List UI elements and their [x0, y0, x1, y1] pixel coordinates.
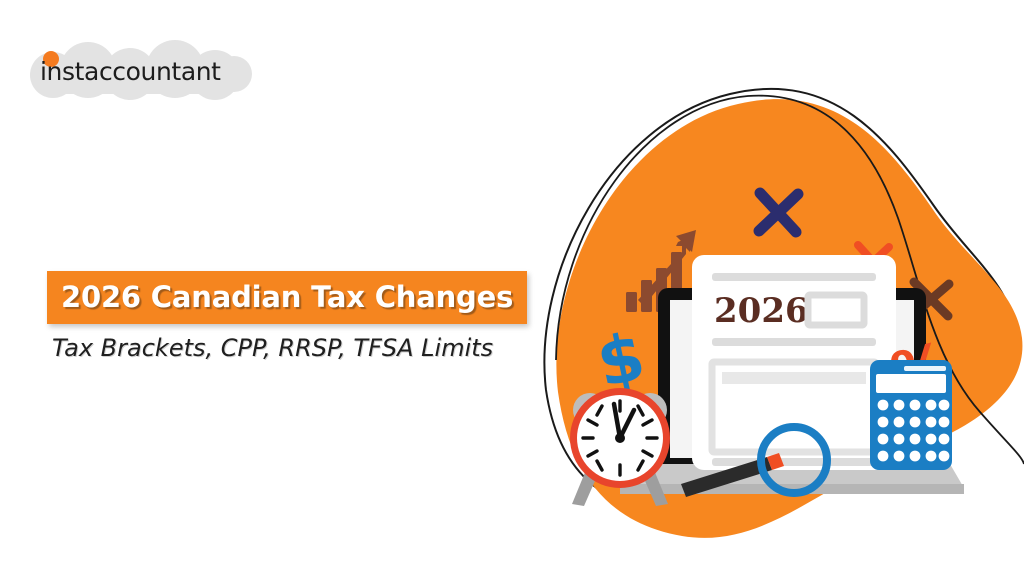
page-title: 2026 Canadian Tax Changes [61, 280, 513, 314]
logo-wordmark: instaccountant [40, 57, 221, 86]
promo-banner-canvas: instaccountant 2026 Canadian Tax Changes… [0, 0, 1024, 576]
tax-illustration: 2026 $ % [516, 60, 1024, 576]
headline-block: 2026 Canadian Tax Changes [47, 271, 527, 324]
tax-document: 2026 [692, 255, 896, 470]
document-year-text: 2026 [714, 291, 809, 331]
page-subtitle: Tax Brackets, CPP, RRSP, TFSA Limits [52, 334, 493, 362]
calculator-icon [870, 360, 952, 470]
brand-logo[interactable]: instaccountant [28, 38, 253, 100]
title-banner: 2026 Canadian Tax Changes [47, 271, 527, 324]
